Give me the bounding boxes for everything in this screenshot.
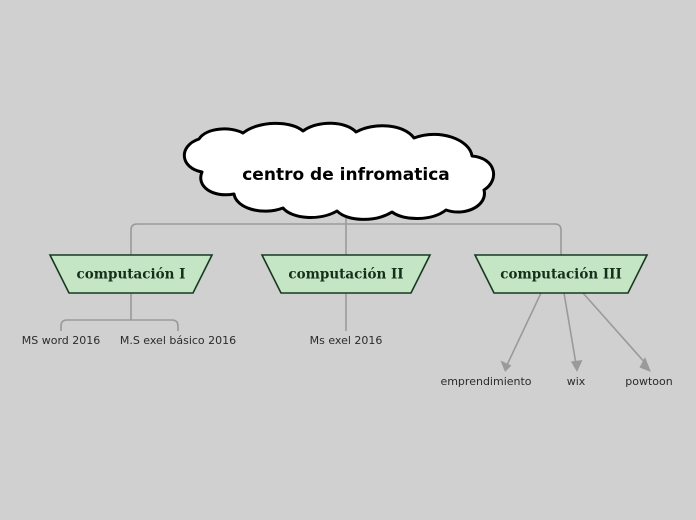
- node-branch-computacion-ii[interactable]: computación II: [262, 255, 430, 293]
- arrow-line-wix: [564, 293, 576, 364]
- mindmap-canvas: centro de infromatica computación I comp…: [0, 0, 696, 520]
- root-label: centro de infromatica: [242, 165, 450, 185]
- arrow-line-powtoon: [583, 293, 647, 365]
- arrow-head-emprendimiento: [501, 361, 512, 373]
- branch-3-label: computación III: [500, 267, 622, 283]
- arrow-line-emprendimiento: [507, 293, 541, 365]
- connector-branch-3-arrows: [501, 293, 652, 372]
- node-branch-computacion-iii[interactable]: computación III: [475, 255, 647, 293]
- leaf-label-ms-word[interactable]: MS word 2016: [22, 334, 101, 347]
- node-branch-computacion-i[interactable]: computación I: [50, 255, 212, 293]
- leaf-label-ms-exel-basico[interactable]: M.S exel básico 2016: [120, 334, 236, 347]
- leaf-label-ms-exel[interactable]: Ms exel 2016: [310, 334, 383, 347]
- branch-2-label: computación II: [288, 267, 403, 283]
- leaf-label-wix[interactable]: wix: [567, 375, 586, 388]
- branch-1-label: computación I: [77, 267, 186, 283]
- connector-branch-1-leafbus: [61, 320, 178, 331]
- leaf-label-emprendimiento[interactable]: emprendimiento: [440, 375, 531, 388]
- node-root[interactable]: centro de infromatica: [184, 123, 493, 219]
- diagram-svg: centro de infromatica computación I comp…: [0, 0, 696, 520]
- arrow-head-wix: [571, 360, 583, 372]
- leaf-label-powtoon[interactable]: powtoon: [625, 375, 672, 388]
